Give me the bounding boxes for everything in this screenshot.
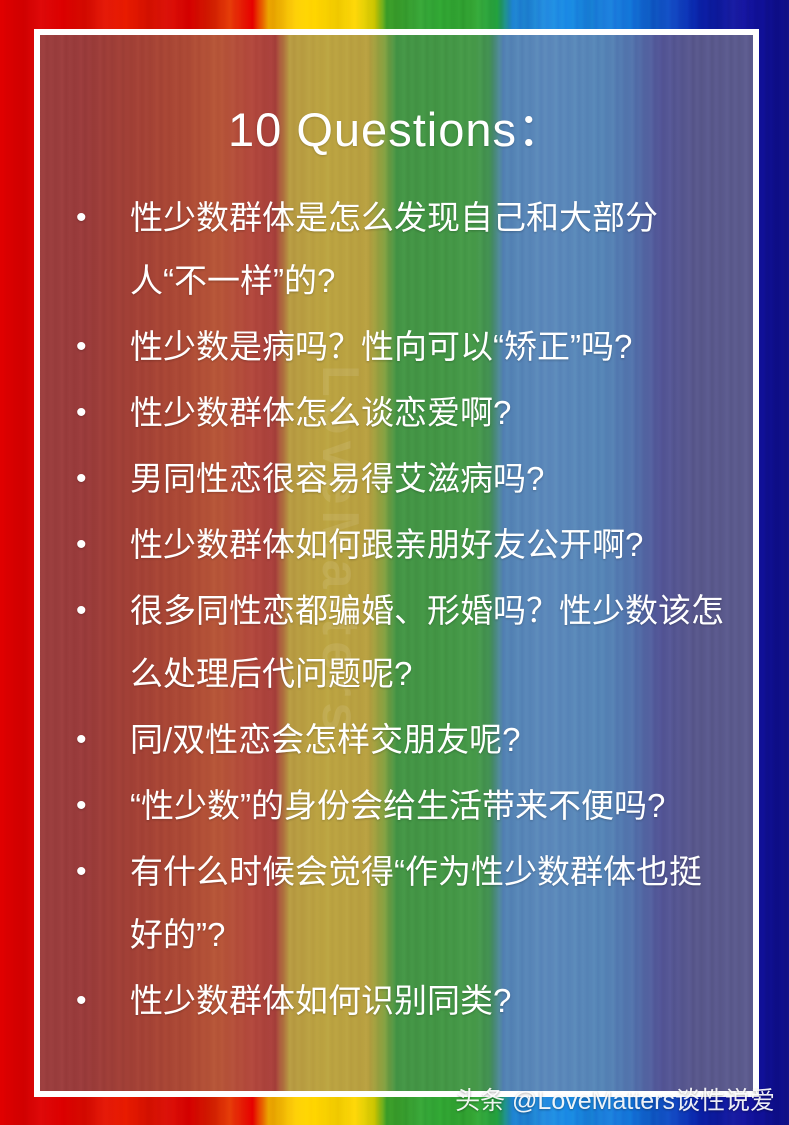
list-item: • 同/双性恋会怎样交朋友呢? (72, 708, 727, 771)
list-item: • 性少数群体怎么谈恋爱啊? (72, 381, 727, 444)
poster-root: LoveMatters 10 Questions： • 性少数群体是怎么发现自己… (0, 0, 789, 1125)
list-item: • 性少数群体如何识别同类? (72, 969, 727, 1032)
panel-content: 10 Questions： • 性少数群体是怎么发现自己和大部分人“不一样”的?… (40, 91, 753, 1032)
list-item: • 很多同性恋都骗婚、形婚吗？性少数该怎么处理后代问题呢? (72, 579, 727, 705)
question-text: 同/双性恋会怎样交朋友呢? (130, 721, 521, 758)
question-text: 性少数群体如何识别同类? (130, 982, 511, 1019)
bullet-icon: • (76, 969, 96, 1032)
question-text: 性少数群体怎么谈恋爱啊? (130, 394, 511, 431)
list-item: • 性少数群体如何跟亲朋好友公开啊? (72, 513, 727, 576)
question-text: “性少数”的身份会给生活带来不便吗? (130, 787, 665, 824)
page-title: 10 Questions： (58, 91, 735, 160)
list-item: • 男同性恋很容易得艾滋病吗? (72, 447, 727, 510)
list-item: • 性少数是病吗？性向可以“矫正”吗? (72, 315, 727, 378)
list-item: • 有什么时候会觉得“作为性少数群体也挺好的”? (72, 840, 727, 966)
question-text: 性少数是病吗？性向可以“矫正”吗? (130, 328, 632, 365)
question-text: 性少数群体如何跟亲朋好友公开啊? (130, 526, 643, 563)
bullet-icon: • (76, 381, 96, 444)
question-text: 有什么时候会觉得“作为性少数群体也挺好的”? (130, 853, 702, 953)
white-bordered-panel: LoveMatters 10 Questions： • 性少数群体是怎么发现自己… (34, 29, 759, 1097)
bullet-icon: • (76, 579, 96, 642)
list-item: • “性少数”的身份会给生活带来不便吗? (72, 774, 727, 837)
bullet-icon: • (76, 315, 96, 378)
question-text: 性少数群体是怎么发现自己和大部分人“不一样”的? (130, 199, 658, 299)
bullet-icon: • (76, 513, 96, 576)
bullet-icon: • (76, 774, 96, 837)
bullet-icon: • (76, 186, 96, 249)
bullet-icon: • (76, 447, 96, 510)
question-text: 男同性恋很容易得艾滋病吗? (130, 460, 544, 497)
bullet-icon: • (76, 840, 96, 903)
question-list: • 性少数群体是怎么发现自己和大部分人“不一样”的? • 性少数是病吗？性向可以… (58, 186, 735, 1032)
list-item: • 性少数群体是怎么发现自己和大部分人“不一样”的? (72, 186, 727, 312)
bullet-icon: • (76, 708, 96, 771)
question-text: 很多同性恋都骗婚、形婚吗？性少数该怎么处理后代问题呢? (130, 592, 724, 692)
